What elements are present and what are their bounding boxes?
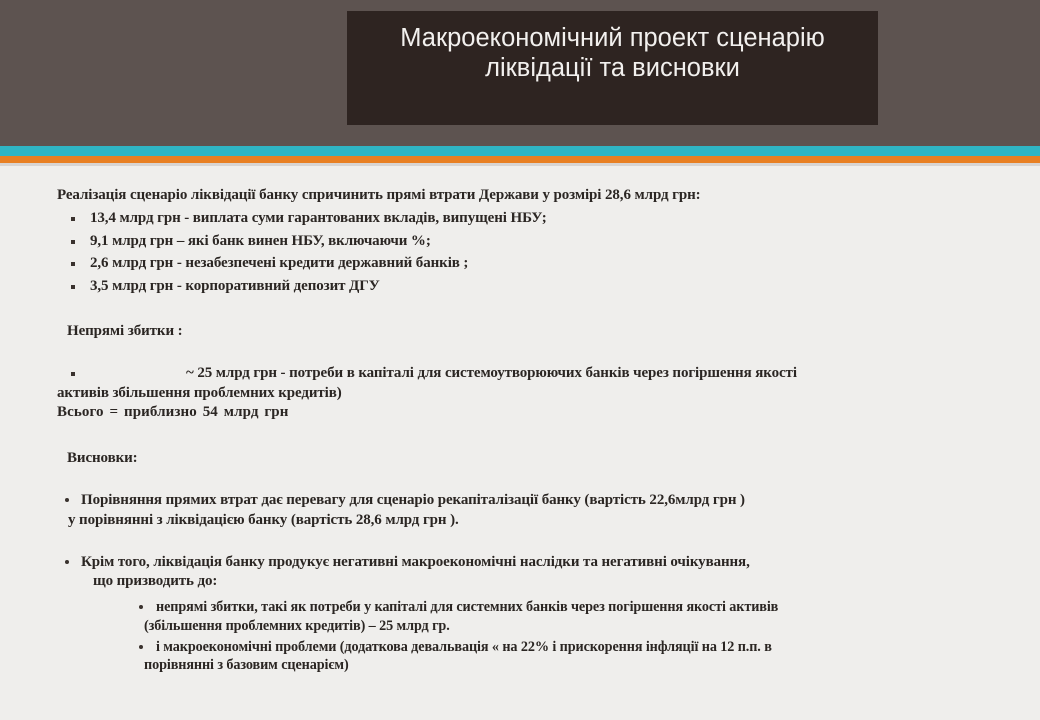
conclusion-1-line-2: у порівнянні з ліквідацією банку (вартіс… [68,511,987,531]
sub-bullet-list: непрямі збитки, такі як потреби у капіта… [81,598,987,675]
round-bullet-icon [65,498,69,502]
list-item-label: 9,1 млрд грн – які банк винен НБУ, включ… [90,233,431,249]
square-bullet-icon [71,262,75,266]
list-item: непрямі збитки, такі як потреби у капіта… [81,598,987,635]
slide-title: Макроекономічний проект сценарію ліквіда… [365,23,860,83]
indirect-losses-continuation: активів збільшення проблемних кредитів) [57,384,987,404]
square-bullet-icon [71,217,75,221]
list-item-label: 2,6 млрд грн - незабезпечені кредити дер… [90,255,468,271]
sub-bullet-1-line-1: непрямі збитки, такі як потреби у капіта… [156,599,778,615]
list-item: і макроекономічні проблеми (додаткова де… [81,638,987,675]
conclusions-heading: Висновки: [57,449,987,469]
conclusion-1-line-1: Порівняння прямих втрат дає перевагу для… [81,492,745,508]
square-bullet-icon [71,372,75,376]
square-bullet-icon [71,285,75,289]
square-bullet-icon [71,240,75,244]
conclusion-item-2: Крім того, ліквідація банку продукує нег… [57,553,987,676]
round-bullet-icon [65,560,69,564]
list-item-label: 13,4 млрд грн - виплата суми гарантовани… [90,210,547,226]
conclusion-2-line-2: що призводить до: [93,572,987,592]
total-line: Всього = приблизно 54 млрд грн [57,403,987,423]
round-bullet-icon [139,645,143,649]
indirect-losses-heading: Непрямі збитки : [57,322,987,342]
indirect-losses-item: ~ 25 млрд грн - потреби в капіталі для с… [57,364,987,384]
conclusion-2-line-1: Крім того, ліквідація банку продукує нег… [81,554,750,570]
list-item: 13,4 млрд грн - виплата суми гарантовани… [57,209,987,229]
spacer [57,423,987,449]
list-item: 3,5 млрд грн - корпоративний депозит ДГУ [57,277,987,297]
spacer [57,469,987,491]
list-item-label: 3,5 млрд грн - корпоративний депозит ДГУ [90,278,380,294]
spacer [57,300,987,322]
indirect-losses-text: ~ 25 млрд грн - потреби в капіталі для с… [186,365,797,381]
list-item: 2,6 млрд грн - незабезпечені кредити дер… [57,254,987,274]
accent-stripe-orange [0,156,1040,163]
direct-losses-list: 13,4 млрд грн - виплата суми гарантовани… [57,209,987,297]
accent-stripe-teal [0,146,1040,156]
content-block: Реалізація сценаріо ліквідації банку спр… [57,186,987,677]
conclusion-item-1: Порівняння прямих втрат дає перевагу для… [57,491,987,531]
lead-paragraph: Реалізація сценаріо ліквідації банку спр… [57,186,987,206]
title-box: Макроекономічний проект сценарію ліквіда… [347,11,878,125]
list-item: 9,1 млрд грн – які банк винен НБУ, включ… [57,232,987,252]
sub-bullet-1-line-2: (збільшення проблемних кредитів) – 25 мл… [144,617,987,636]
spacer [57,531,987,553]
slide-body: Реалізація сценаріо ліквідації банку спр… [0,166,1040,720]
slide: Макроекономічний проект сценарію ліквіда… [0,0,1040,720]
sub-bullet-2-line-1: і макроекономічні проблеми (додаткова де… [156,639,772,655]
spacer [57,342,987,364]
round-bullet-icon [139,605,143,609]
sub-bullet-2-line-2: порівнянні з базовим сценарієм) [144,656,987,675]
